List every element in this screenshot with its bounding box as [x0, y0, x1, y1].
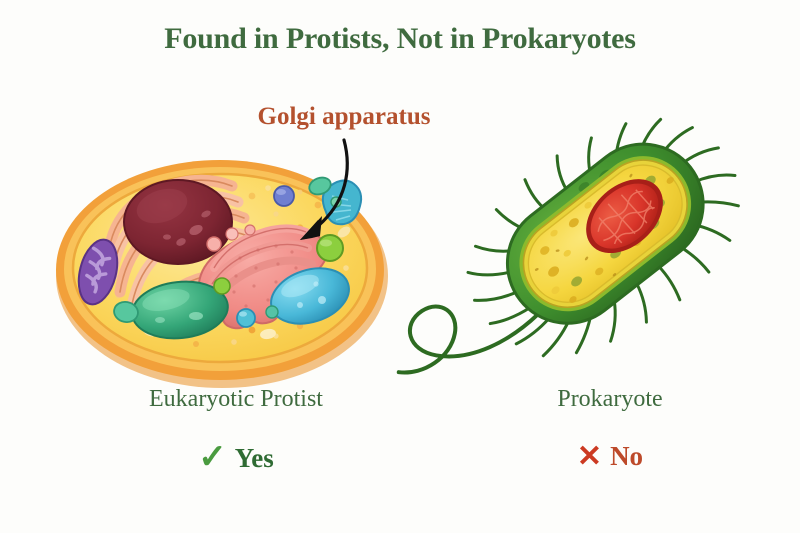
- verdict-prokaryote: ✕ No: [460, 441, 760, 472]
- caption-eukaryotic-protist: Eukaryotic Protist: [86, 386, 386, 413]
- cross-icon: ✕: [577, 442, 602, 472]
- verdict-eukaryote-text: Yes: [235, 443, 274, 474]
- check-icon: ✓: [198, 441, 227, 475]
- diagram-canvas: Found in Protists, Not in Prokaryotes: [0, 0, 800, 533]
- verdict-eukaryote: ✓ Yes: [86, 441, 386, 475]
- caption-prokaryote: Prokaryote: [460, 386, 760, 413]
- verdict-prokaryote-text: No: [610, 441, 643, 472]
